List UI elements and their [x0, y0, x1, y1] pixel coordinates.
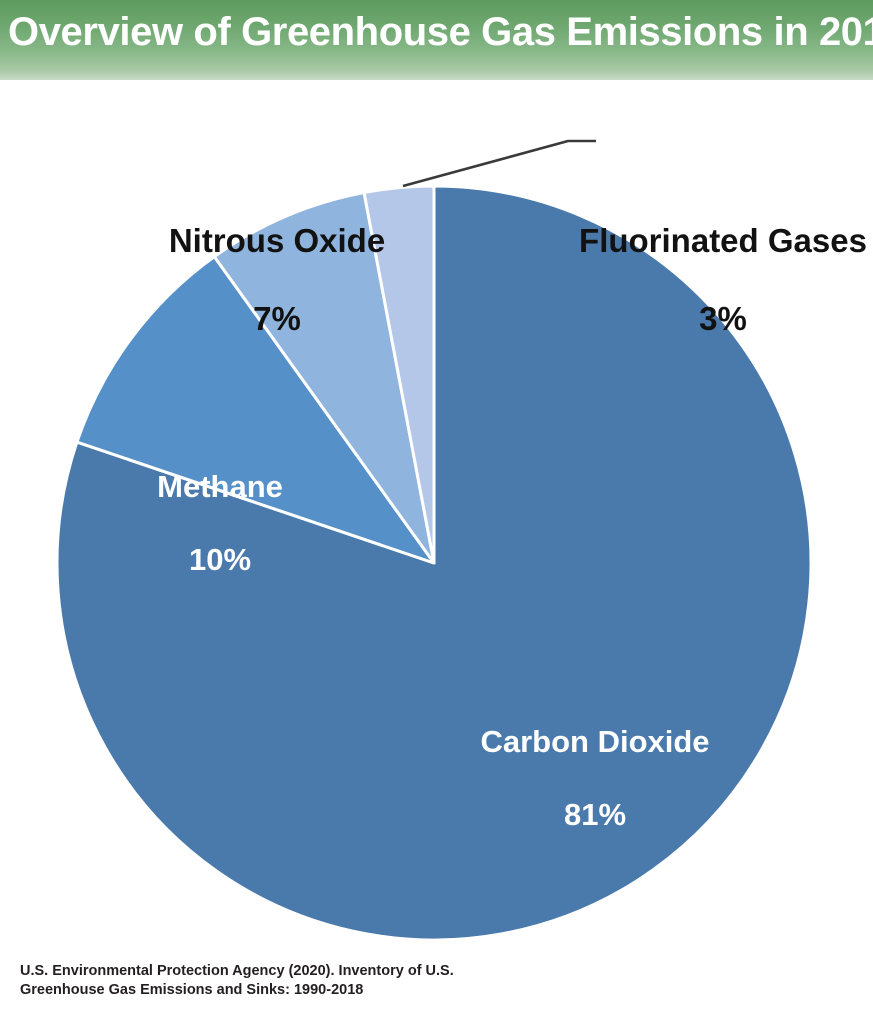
pie-chart: Nitrous Oxide 7% Fluorinated Gases 3% Me…	[0, 80, 873, 960]
slice-label-nitrous-oxide: Nitrous Oxide 7%	[122, 183, 432, 378]
source-caption-line-1: U.S. Environmental Protection Agency (20…	[20, 962, 580, 981]
slice-label-fluorinated-gases: Fluorinated Gases 3%	[578, 183, 868, 378]
slice-label-nitrous-oxide-name: Nitrous Oxide	[122, 222, 432, 261]
slice-label-carbon-dioxide-name: Carbon Dioxide	[476, 724, 714, 761]
fluorinated-gases-leader-line	[403, 141, 596, 186]
slice-label-fluorinated-gases-name: Fluorinated Gases	[578, 222, 868, 261]
slice-label-nitrous-oxide-value: 7%	[122, 300, 432, 339]
slide-root: Overview of Greenhouse Gas Emissions in …	[0, 0, 873, 1024]
slice-label-fluorinated-gases-value: 3%	[578, 300, 868, 339]
source-caption: U.S. Environmental Protection Agency (20…	[20, 962, 580, 1000]
slice-label-methane-value: 10%	[105, 542, 335, 579]
source-caption-line-2: Greenhouse Gas Emissions and Sinks: 1990…	[20, 981, 580, 1000]
slice-label-methane-name: Methane	[105, 469, 335, 506]
slice-label-carbon-dioxide-value: 81%	[476, 797, 714, 834]
header-band: Overview of Greenhouse Gas Emissions in …	[0, 0, 873, 80]
page-title: Overview of Greenhouse Gas Emissions in …	[8, 6, 873, 58]
slice-label-carbon-dioxide: Carbon Dioxide 81%	[476, 687, 714, 870]
slice-label-methane: Methane 10%	[105, 432, 335, 615]
